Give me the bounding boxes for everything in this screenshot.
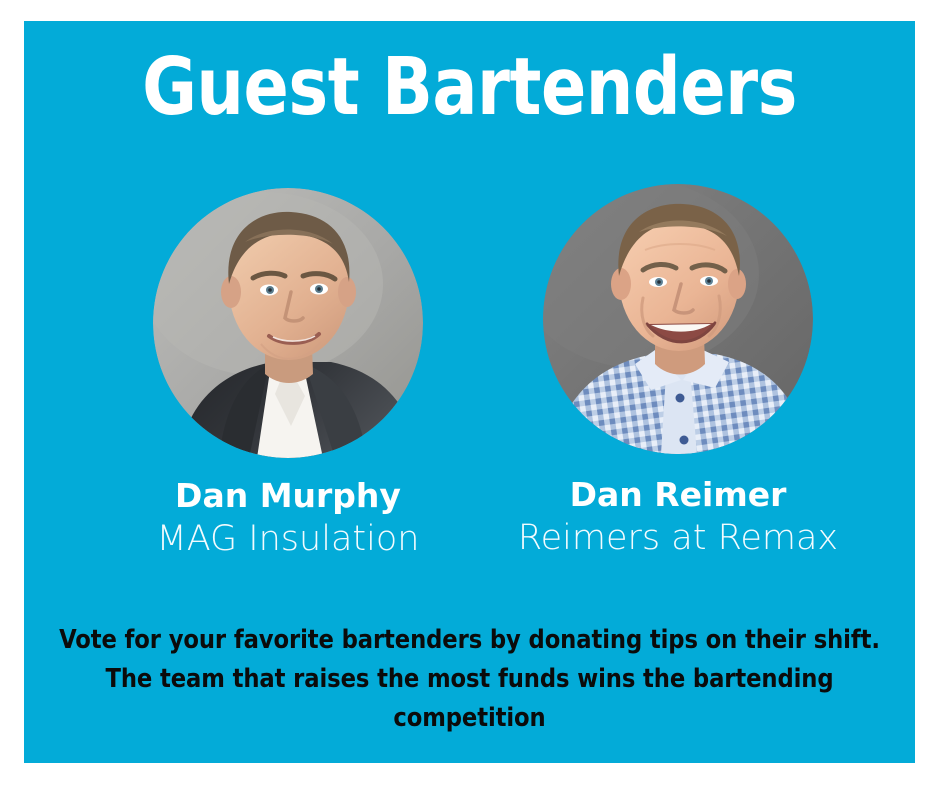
poster-panel: Guest Bartenders xyxy=(24,21,915,763)
poster-canvas: Guest Bartenders xyxy=(0,0,940,788)
bartender-list: Dan Murphy MAG Insulation xyxy=(24,171,915,571)
bartender-photo-0 xyxy=(153,188,423,458)
bartender-org-0: MAG Insulation xyxy=(88,518,488,560)
bartender-card-1: Dan Reimer Reimers at Remax xyxy=(478,171,878,559)
bartender-name-0: Dan Murphy xyxy=(88,476,488,516)
bartender-photo-1 xyxy=(543,184,813,454)
bartender-org-1: Reimers at Remax xyxy=(478,517,878,559)
caption-text: Vote for your favorite bartenders by don… xyxy=(51,621,888,738)
page-title: Guest Bartenders xyxy=(51,43,889,131)
bartender-card-0: Dan Murphy MAG Insulation xyxy=(88,171,488,560)
bartender-name-1: Dan Reimer xyxy=(478,475,878,515)
